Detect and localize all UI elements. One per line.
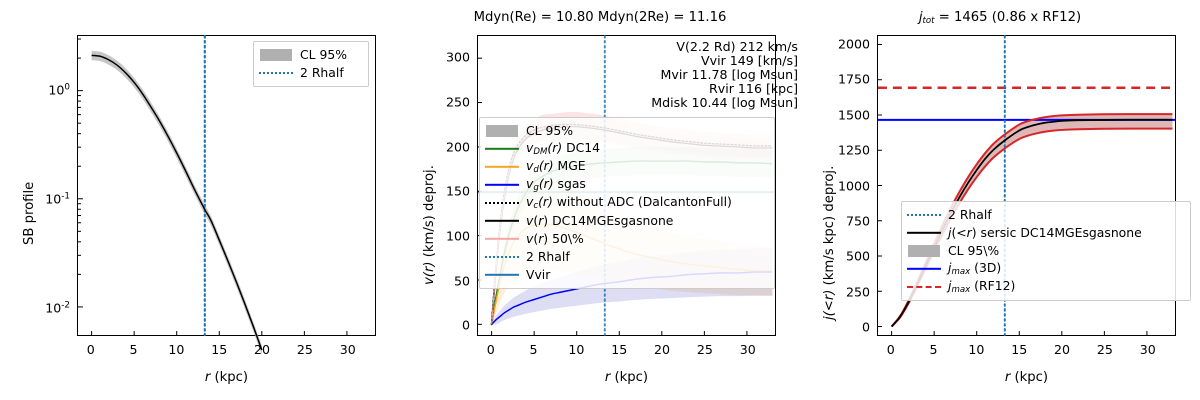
legend-item: jmax (3D) [907,260,1185,278]
ytick-label: 150 [400,184,470,199]
legend-item: CL 95% [259,46,363,64]
legend-label: jmax (RF12) [948,280,1015,294]
legend-label: j(<r) sersic DC14MGEsgasnone [948,227,1142,239]
legend-label: vc(r) without ADC (DalcantonFull) [526,196,732,210]
panel-right-title: jtot = 1465 (0.86 x RF12) [800,10,1200,26]
legend-item: j(<r) sersic DC14MGEsgasnone [907,224,1185,242]
line-icon [485,268,519,282]
line-icon [485,160,519,174]
line-icon [485,214,519,228]
cl95-patch-icon [485,124,519,138]
legend-label: CL 95% [300,49,347,61]
ytick-label: 300 [400,50,470,65]
panel-right-title-rest: = 1465 (0.86 x RF12) [935,10,1082,25]
panel-mid-title: Mdyn(Re) = 10.80 Mdyn(2Re) = 11.16 [400,10,800,25]
ytick-label: 200 [400,139,470,154]
legend-label: Vvir [526,269,550,281]
ytick-label: 250 [400,94,470,109]
legend-item: vd(r) MGE [485,158,769,176]
panel-left-xlabel-unit: (kpc) [210,370,248,385]
annotation-line: Mdisk 10.44 [log Msun] [651,96,798,110]
annotation-line: V(2.2 Rd) 212 km/s [651,40,798,54]
line-icon [907,262,941,276]
legend-label: CL 95% [526,125,573,137]
panel-right-xlabel: r (kpc) [877,370,1176,385]
legend-label: 2 Rhalf [948,209,992,221]
ytick-label: 100 [0,82,70,97]
panel-left-xlabel: r (kpc) [77,370,376,385]
legend-label: 2 Rhalf [300,67,344,79]
panel-right-xlabel-unit: (kpc) [1010,370,1048,385]
xtick-label: 0 [87,342,95,357]
line-icon [907,226,941,240]
xtick-label: 10 [168,342,184,357]
xtick-label: 5 [530,342,538,357]
ytick-label: 100 [400,228,470,243]
ytick-label: 10-1 [0,191,70,206]
annotation-line: Rvir 116 [kpc] [651,82,798,96]
xtick-label: 15 [211,342,227,357]
panel-right-legend: 2 Rhalfj(<r) sersic DC14MGEsgasnoneCL 95… [901,201,1191,301]
panel-left-legend: CL 95% 2 Rhalf [253,41,369,87]
xtick-label: 25 [697,342,713,357]
panel-mid-xlabel-unit: (kpc) [610,370,648,385]
panel-angular-momentum: jtot = 1465 (0.86 x RF12) j(<r) (km/s kp… [800,0,1200,400]
legend-item: vg(r) sgas [485,176,769,194]
panel-mid-xlabel: r (kpc) [477,370,776,385]
annotation-line: Mvir 11.78 [log Msun] [651,68,798,82]
legend-label: v(r) 50\% [526,233,584,245]
legend-item: v(r) 50\% [485,230,769,248]
annotation-line: Vvir 149 [km/s] [651,54,798,68]
legend-label: jmax (3D) [948,262,1001,276]
xtick-label: 15 [1011,342,1027,357]
xtick-label: 10 [968,342,984,357]
legend-item: vDM(r) DC14 [485,140,769,158]
ytick-label: 1750 [800,72,870,87]
legend-label: vd(r) MGE [526,160,586,174]
panel-rotation-curve: Mdyn(Re) = 10.80 Mdyn(2Re) = 11.16 v(r) … [400,0,800,400]
xtick-label: 30 [740,342,756,357]
xtick-label: 0 [887,342,895,357]
legend-item: CL 95% [485,122,769,140]
xtick-label: 25 [1097,342,1113,357]
xtick-label: 30 [340,342,356,357]
dotted-line-icon [907,208,941,222]
legend-label: CL 95\% [948,245,999,257]
line-icon [485,142,519,156]
dotted-line-icon [485,196,519,210]
ytick-label: 250 [800,284,870,299]
ytick-label: 50 [400,273,470,288]
legend-label: vDM(r) DC14 [526,142,600,156]
rhalf-dotted-line-icon [259,66,293,80]
legend-item: CL 95\% [907,242,1185,260]
xtick-label: 30 [1140,342,1156,357]
legend-item: 2 Rhalf [907,206,1185,224]
panel-mid-annotation-block: V(2.2 Rd) 212 km/sVvir 149 [km/s]Mvir 11… [651,40,798,110]
cl95-patch-icon [259,48,293,62]
legend-item: 2 Rhalf [259,64,363,82]
legend-item: vc(r) without ADC (DalcantonFull) [485,194,769,212]
ytick-label: 1250 [800,143,870,158]
xtick-label: 15 [611,342,627,357]
panel-left-curve [92,55,262,350]
ytick-label: 0 [400,318,470,333]
legend-item: Vvir [485,266,769,284]
xtick-label: 5 [930,342,938,357]
ytick-label: 1000 [800,178,870,193]
line-icon [485,232,519,246]
legend-label: vg(r) sgas [526,178,586,192]
xtick-label: 20 [254,342,270,357]
panel-mid-ylabel-unit: (km/s) deproj. [422,165,437,261]
xtick-label: 10 [568,342,584,357]
ytick-label: 1500 [800,107,870,122]
legend-label: v(r) DC14MGEsgasnone [526,215,673,227]
xtick-label: 25 [297,342,313,357]
ytick-label: 10-2 [0,300,70,315]
ytick-label: 0 [800,320,870,335]
legend-item: 2 Rhalf [485,248,769,266]
figure-root: SB profile 051015202530 10010-110-2 r (k… [0,0,1200,400]
ytick-label: 2000 [800,36,870,51]
dotted-line-icon [485,250,519,264]
ytick-label: 500 [800,249,870,264]
panel-sb-profile: SB profile 051015202530 10010-110-2 r (k… [0,0,400,400]
legend-item: jmax (RF12) [907,278,1185,296]
panel-left-band [92,51,262,355]
line-icon [485,178,519,192]
legend-item: v(r) DC14MGEsgasnone [485,212,769,230]
ytick-label: 750 [800,213,870,228]
xtick-label: 0 [487,342,495,357]
xtick-label: 20 [1054,342,1070,357]
legend-label: 2 Rhalf [526,251,570,263]
xtick-label: 5 [130,342,138,357]
xtick-label: 20 [654,342,670,357]
panel-mid-legend: CL 95%vDM(r) DC14vd(r) MGEvg(r) sgasvc(r… [479,117,775,289]
panel-right-title-sym: jtot [919,10,935,25]
dashed-line-icon [907,280,941,294]
cl95-patch-icon [907,244,941,258]
